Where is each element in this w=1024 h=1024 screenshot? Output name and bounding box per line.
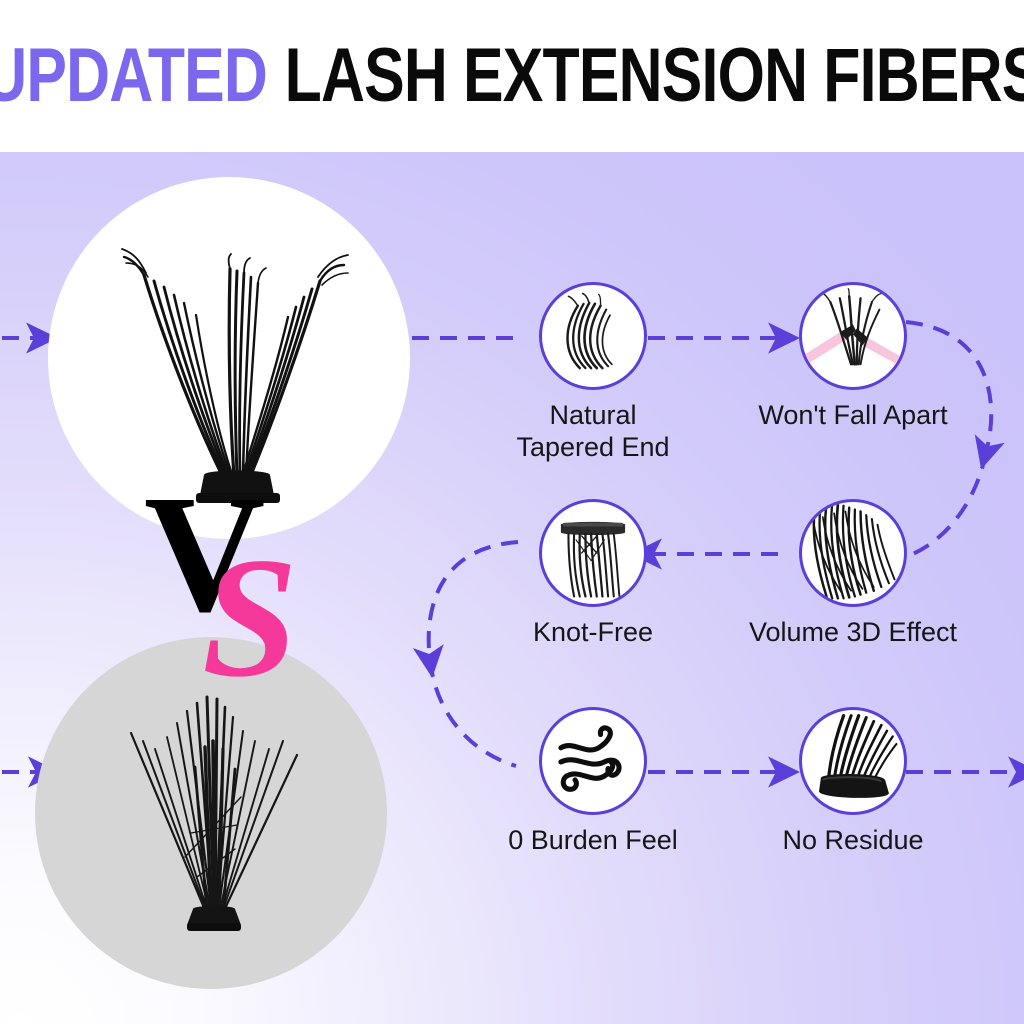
- wind-breeze-icon: [539, 707, 647, 815]
- tweezer-lash-icon: [799, 282, 907, 390]
- old-product-circle: [35, 637, 387, 989]
- volume-lash-icon: [799, 499, 907, 607]
- feature-no-residue[interactable]: No Residue: [738, 707, 968, 857]
- updated-product-circle: [48, 177, 410, 539]
- feature-natural-tapered-end[interactable]: Natural Tapered End: [478, 282, 708, 464]
- infographic-page: UPDATEDLASH EXTENSION FIBERS: [0, 0, 1024, 1024]
- feature-label: No Residue: [782, 825, 923, 857]
- feature-label: Natural Tapered End: [516, 400, 669, 464]
- feature-zero-burden-feel[interactable]: 0 Burden Feel: [478, 707, 708, 857]
- feature-label: 0 Burden Feel: [508, 825, 678, 857]
- feature-label: Knot-Free: [533, 617, 653, 649]
- infographic-body: V S: [0, 152, 1024, 1024]
- tapered-lash-icon: [539, 282, 647, 390]
- old-lash-cluster-icon: [35, 637, 387, 989]
- feature-label: Won't Fall Apart: [758, 400, 947, 432]
- feature-wont-fall-apart[interactable]: Won't Fall Apart: [738, 282, 968, 432]
- page-title: UPDATEDLASH EXTENSION FIBERS: [0, 38, 1024, 114]
- updated-lash-cluster-icon: [48, 177, 410, 539]
- knot-free-lash-icon: [539, 499, 647, 607]
- page-header: UPDATEDLASH EXTENSION FIBERS: [0, 0, 1024, 152]
- lash-band-icon: [799, 707, 907, 815]
- title-rest-words: LASH EXTENSION FIBERS: [284, 33, 1024, 118]
- title-highlight-word: UPDATED: [0, 33, 267, 118]
- feature-knot-free[interactable]: Knot-Free: [478, 499, 708, 649]
- feature-volume-3d-effect[interactable]: Volume 3D Effect: [738, 499, 968, 649]
- feature-label: Volume 3D Effect: [749, 617, 957, 649]
